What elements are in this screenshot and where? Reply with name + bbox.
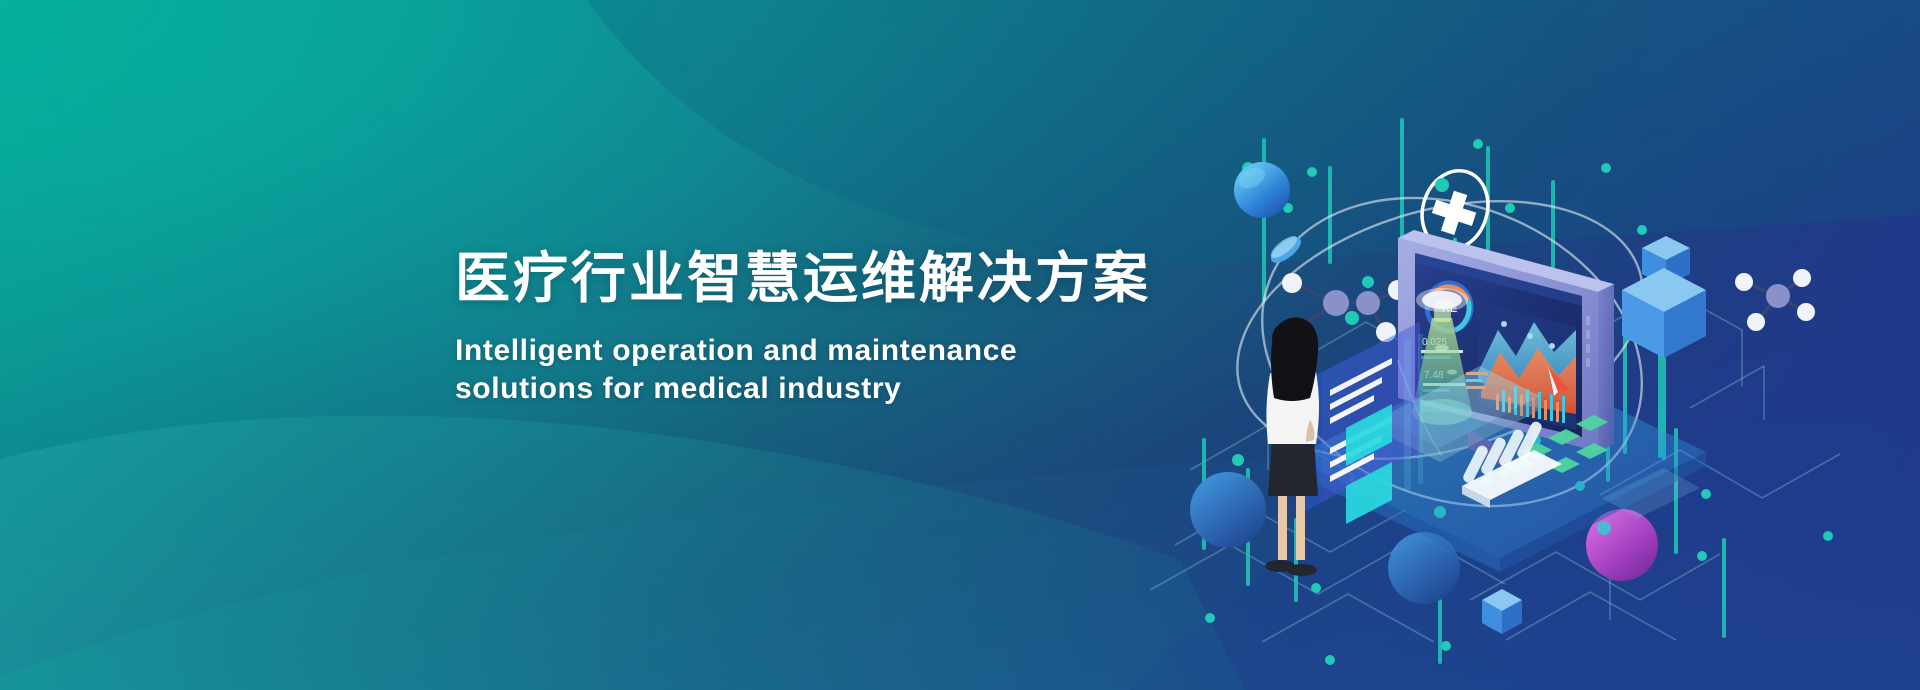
page-title: 医疗行业智慧运维解决方案 — [455, 248, 1155, 310]
banner-text-block: 医疗行业智慧运维解决方案 Intelligent operation and m… — [455, 248, 1155, 408]
hero-banner: RE 0.025 7.48 — [0, 0, 1920, 690]
sphere-blue — [1234, 162, 1290, 218]
sphere-blue-lower-left — [1190, 472, 1266, 548]
molecule-right — [1735, 269, 1815, 331]
page-subtitle: Intelligent operation and maintenance so… — [455, 332, 1155, 409]
